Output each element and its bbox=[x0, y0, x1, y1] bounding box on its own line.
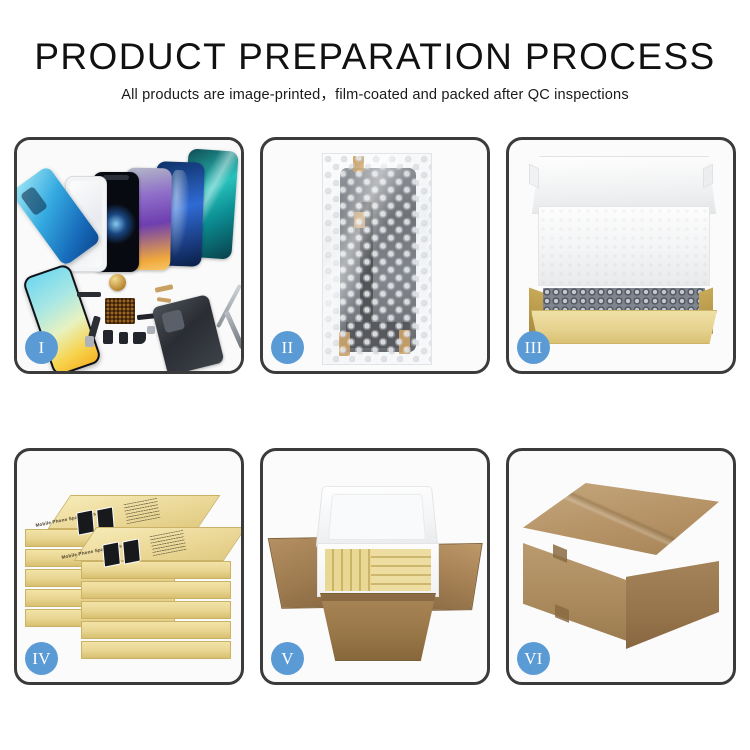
small-module-icon bbox=[103, 330, 113, 344]
yellow-boxes-horizontal-row-icon bbox=[371, 549, 431, 591]
yellow-boxes-vertical-row-icon bbox=[325, 549, 371, 591]
step-badge-4: IV bbox=[25, 642, 58, 675]
yellow-kraft-box-front-icon bbox=[531, 310, 717, 344]
white-foam-panel-icon bbox=[538, 206, 710, 286]
step-badge-2: II bbox=[271, 331, 304, 364]
process-step-5[interactable]: V bbox=[260, 448, 490, 685]
step-badge-3: III bbox=[517, 331, 550, 364]
step-badge-5: V bbox=[271, 642, 304, 675]
styrofoam-lid-icon bbox=[316, 486, 439, 550]
process-step-6[interactable]: VI bbox=[506, 448, 736, 685]
box-label-thumbnail bbox=[102, 541, 121, 567]
lid-tab-left-icon bbox=[529, 164, 539, 189]
header: PRODUCT PREPARATION PROCESS All products… bbox=[0, 36, 750, 105]
screw-plate-icon bbox=[147, 326, 155, 334]
stacked-box bbox=[81, 601, 231, 619]
carton-side-face-icon bbox=[626, 561, 719, 649]
box-stack-icon: Mobile Phone Spare Parts Mobile Phone Sp… bbox=[25, 471, 239, 671]
gold-chip-grid-icon bbox=[105, 298, 135, 324]
plastic-sheen bbox=[323, 154, 431, 364]
metal-bracket-icon bbox=[85, 336, 94, 347]
product-preparation-infographic: PRODUCT PREPARATION PROCESS All products… bbox=[0, 0, 750, 750]
gold-coin-component-icon bbox=[109, 274, 126, 291]
process-step-3[interactable]: III bbox=[506, 137, 736, 374]
stacked-box bbox=[81, 621, 231, 639]
packed-boxes-group bbox=[325, 549, 431, 591]
stacked-box bbox=[81, 581, 231, 599]
process-step-grid: I II bbox=[14, 137, 736, 689]
speaker-module-icon bbox=[119, 332, 128, 344]
process-step-4[interactable]: Mobile Phone Spare Parts Mobile Phone Sp… bbox=[14, 448, 244, 685]
page-title: PRODUCT PREPARATION PROCESS bbox=[0, 36, 750, 78]
stacked-box bbox=[81, 641, 231, 659]
step-badge-6: VI bbox=[517, 642, 550, 675]
vibrator-module-icon bbox=[133, 332, 146, 344]
box-label-thumbnail bbox=[122, 538, 141, 564]
page-subtitle: All products are image-printed，film-coat… bbox=[0, 85, 750, 105]
process-step-1[interactable]: I bbox=[14, 137, 244, 374]
carton-front-face-icon bbox=[523, 543, 627, 641]
process-step-2[interactable]: II bbox=[260, 137, 490, 374]
taptic-engine-icon bbox=[77, 292, 101, 297]
bubble-wrap-bag-icon bbox=[322, 153, 432, 365]
step-badge-1: I bbox=[25, 331, 58, 364]
carton-front-panel-icon bbox=[315, 593, 441, 661]
